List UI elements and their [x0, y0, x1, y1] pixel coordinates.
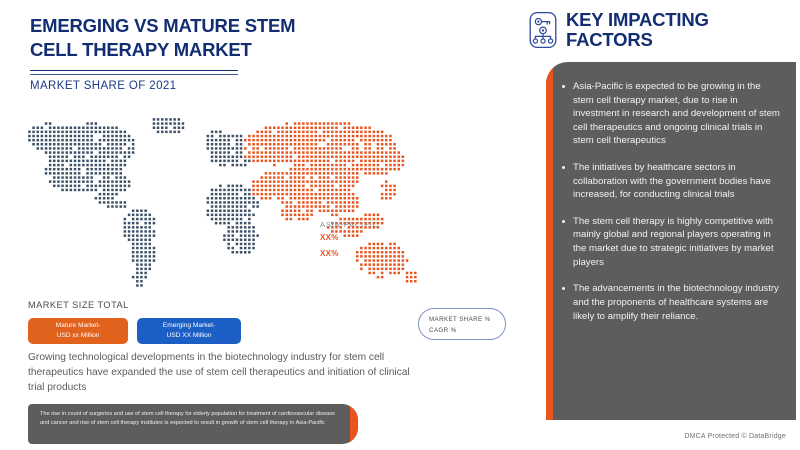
legend-item-mature-market[interactable]: Mature Market- USD xx Million: [28, 318, 128, 344]
page-subtitle: MARKET SHARE OF 2021: [30, 80, 176, 92]
dmca-notice: DMCA Protected © DataBridge: [684, 433, 786, 440]
legend-emerging-line1: Emerging Market-: [163, 321, 215, 331]
legend-title: MARKET SIZE TOTAL: [28, 300, 129, 310]
highlight-note-text: The rise in count of surgeries and use o…: [40, 410, 336, 428]
legend-item-emerging-market[interactable]: Emerging Market- USD XX Million: [137, 318, 241, 344]
list-item: Asia-Pacific is expected to be growing i…: [560, 80, 784, 148]
highlight-note-box: The rise in count of surgeries and use o…: [28, 404, 358, 444]
world-map-dots: [18, 108, 518, 303]
list-item: The stem cell therapy is highly competit…: [560, 215, 784, 269]
legend-mature-line1: Mature Market-: [56, 321, 101, 331]
card-accent-bar: [546, 62, 553, 420]
infographic-root: EMERGING VS MATURE STEM CELL THERAPY MAR…: [0, 0, 800, 450]
key-factors-card: Asia-Pacific is expected to be growing i…: [546, 62, 796, 420]
legend-emerging-line2: USD XX Million: [166, 331, 211, 341]
world-map: [18, 108, 518, 303]
title-divider: [30, 70, 238, 71]
map-region-value-cagr: XX%: [320, 249, 339, 258]
page-title: EMERGING VS MATURE STEM CELL THERAPY MAR…: [30, 14, 330, 61]
list-item: The advancements in the biotechnology in…: [560, 282, 784, 323]
note-accent-bar: [350, 404, 358, 444]
key-factors-list: Asia-Pacific is expected to be growing i…: [560, 80, 784, 336]
callout-market-share: MARKET SHARE %: [429, 314, 505, 325]
left-panel: EMERGING VS MATURE STEM CELL THERAPY MAR…: [0, 0, 520, 450]
key-factors-title: KEY IMPACTING FACTORS: [566, 10, 756, 51]
right-panel: KEY IMPACTING FACTORS Asia-Pacific is ex…: [520, 0, 800, 450]
legend-mature-line2: USD xx Million: [57, 331, 100, 341]
market-share-callout: MARKET SHARE % CAGR %: [418, 308, 506, 340]
summary-paragraph: Growing technological developments in th…: [28, 350, 428, 395]
list-item: The initiatives by healthcare sectors in…: [560, 161, 784, 202]
callout-cagr: CAGR %: [429, 325, 505, 336]
key-network-icon: [528, 11, 558, 49]
key-factors-header: KEY IMPACTING FACTORS: [528, 10, 756, 51]
title-divider-secondary: [30, 74, 238, 75]
map-region-value-share: XX%: [320, 233, 339, 242]
map-region-label: ASIA-PACIFIC: [320, 220, 379, 229]
